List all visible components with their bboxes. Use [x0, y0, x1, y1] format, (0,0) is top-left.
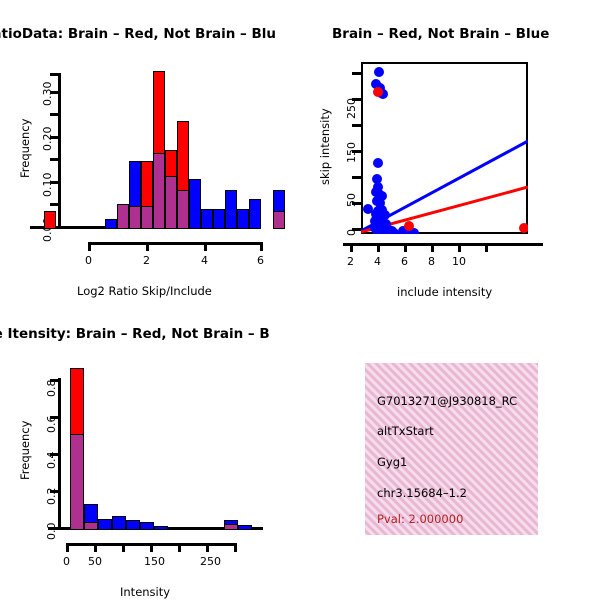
panel-intensity-title: ne Itensity: Brain – Red, Not Brain – B — [0, 326, 270, 342]
ytick-mark — [352, 176, 361, 179]
xtick-mark — [404, 243, 407, 252]
xtick-mark — [178, 543, 181, 552]
bar — [70, 434, 84, 530]
bar — [44, 211, 56, 229]
bar — [126, 520, 140, 530]
panel-ratio-histogram: RatioData: Brain – Red, Not Brain – Blu … — [0, 0, 300, 300]
ytick-mark — [352, 124, 361, 127]
scatter-points-blue — [363, 67, 419, 234]
annotation-line-0: G7013271@J930818_RC — [377, 394, 517, 408]
bar — [84, 522, 98, 530]
bar — [129, 206, 141, 229]
panel-intensity-scatter: Brain – Red, Not Brain – Blue skip inten… — [300, 0, 600, 300]
panel-ratio-ylabel: Frequency — [18, 119, 32, 178]
panel-scatter-xtick-0: 2 — [347, 255, 354, 268]
xtick-mark — [150, 543, 153, 552]
panel-intensity-xtick-0: 0 — [63, 555, 70, 568]
bar — [249, 199, 261, 229]
bar — [105, 219, 117, 229]
bar — [273, 211, 285, 229]
ytick-mark — [50, 73, 59, 76]
ytick-mark — [352, 98, 361, 101]
bar — [224, 524, 238, 530]
panel-scatter-plotarea — [361, 62, 528, 234]
ytick-mark — [50, 379, 59, 382]
panel-ratio-ytick-1: 0.10 — [41, 173, 54, 198]
xtick-mark — [260, 242, 263, 251]
bar — [177, 190, 189, 229]
bar — [140, 522, 154, 530]
panel-intensity-xtick-2: 150 — [144, 555, 165, 568]
bar — [154, 526, 168, 530]
panel-ratio-xlabel: Log2 Ratio Skip/Include — [77, 284, 212, 298]
ytick-mark — [50, 181, 59, 184]
bar — [98, 519, 112, 530]
ytick-mark — [352, 150, 361, 153]
ytick-mark — [352, 72, 361, 75]
xtick-mark — [66, 543, 69, 552]
xtick-mark — [88, 242, 91, 251]
panel-ratio-title: RatioData: Brain – Red, Not Brain – Blu — [0, 26, 276, 42]
bar — [201, 209, 213, 229]
bar — [225, 190, 237, 229]
bar — [112, 516, 126, 530]
panel-scatter-xtick-3: 8 — [428, 255, 435, 268]
panel-ratio-xtick-3: 6 — [257, 254, 264, 267]
xtick-mark — [204, 242, 207, 251]
ytick-mark — [50, 136, 59, 139]
panel-scatter-xtick-1: 4 — [374, 255, 381, 268]
xtick-mark — [122, 543, 125, 552]
ytick-mark — [50, 158, 59, 161]
ytick-mark — [50, 490, 59, 493]
panel-intensity-xtick-1: 50 — [88, 555, 102, 568]
panel-ratio-xaxis — [88, 242, 263, 245]
panel-scatter-ytick-3: 250 — [345, 98, 358, 119]
bar — [213, 209, 225, 229]
ytick-mark — [50, 416, 59, 419]
panel-intensity-ylabel: Frequency — [18, 421, 32, 480]
xtick-mark — [485, 243, 488, 252]
figure-canvas: RatioData: Brain – Red, Not Brain – Blu … — [0, 0, 600, 600]
ytick-mark — [352, 202, 361, 205]
ytick-mark — [50, 453, 59, 456]
xtick-mark — [206, 543, 209, 552]
panel-intensity-xlabel: Intensity — [120, 585, 170, 599]
panel-intensity-histogram: ne Itensity: Brain – Red, Not Brain – B … — [0, 300, 300, 600]
ytick-mark — [50, 91, 59, 94]
annotation-line-1: altTxStart — [377, 424, 434, 438]
panel-scatter-xtick-2: 6 — [401, 255, 408, 268]
ytick-mark — [352, 228, 361, 231]
panel-intensity-xtick-3: 250 — [200, 555, 221, 568]
annotation-line-3: chr3.15684–1.2 — [377, 486, 467, 500]
ytick-mark — [50, 113, 59, 116]
bar — [237, 209, 249, 229]
xtick-mark — [350, 243, 353, 252]
panel-intensity-ytick-0: 0.0 — [45, 523, 58, 541]
bar — [153, 153, 165, 229]
xtick-mark — [377, 243, 380, 252]
panel-scatter-xlabel: include intensity — [397, 285, 492, 299]
bar — [165, 176, 177, 229]
panel-ratio-xtick-0: 0 — [85, 254, 92, 267]
xtick-mark — [94, 543, 97, 552]
panel-annotation: G7013271@J930818_RC altTxStart Gyg1 chr3… — [300, 300, 600, 600]
panel-ratio-xtick-2: 4 — [201, 254, 208, 267]
panel-scatter-xtick-4: 10 — [452, 255, 466, 268]
panel-ratio-xtick-1: 2 — [143, 254, 150, 267]
bar — [238, 525, 252, 530]
panel-scatter-xaxis — [343, 243, 543, 246]
bar — [189, 179, 201, 229]
annotation-pval: Pval: 2.000000 — [377, 512, 463, 526]
panel-intensity-ytick-4: 0.8 — [45, 380, 58, 398]
bar — [117, 204, 129, 229]
xtick-mark — [146, 242, 149, 251]
ytick-mark — [50, 203, 59, 206]
panel-scatter-title: Brain – Red, Not Brain – Blue — [332, 26, 549, 42]
annotation-line-2: Gyg1 — [377, 455, 407, 469]
xtick-mark — [458, 243, 461, 252]
xtick-mark — [234, 543, 237, 552]
annotation-box — [365, 363, 538, 535]
bar — [141, 206, 153, 229]
annotation-clip-mask — [538, 363, 600, 535]
panel-scatter-ylabel: skip intensity — [318, 108, 332, 185]
xtick-mark — [431, 243, 434, 252]
